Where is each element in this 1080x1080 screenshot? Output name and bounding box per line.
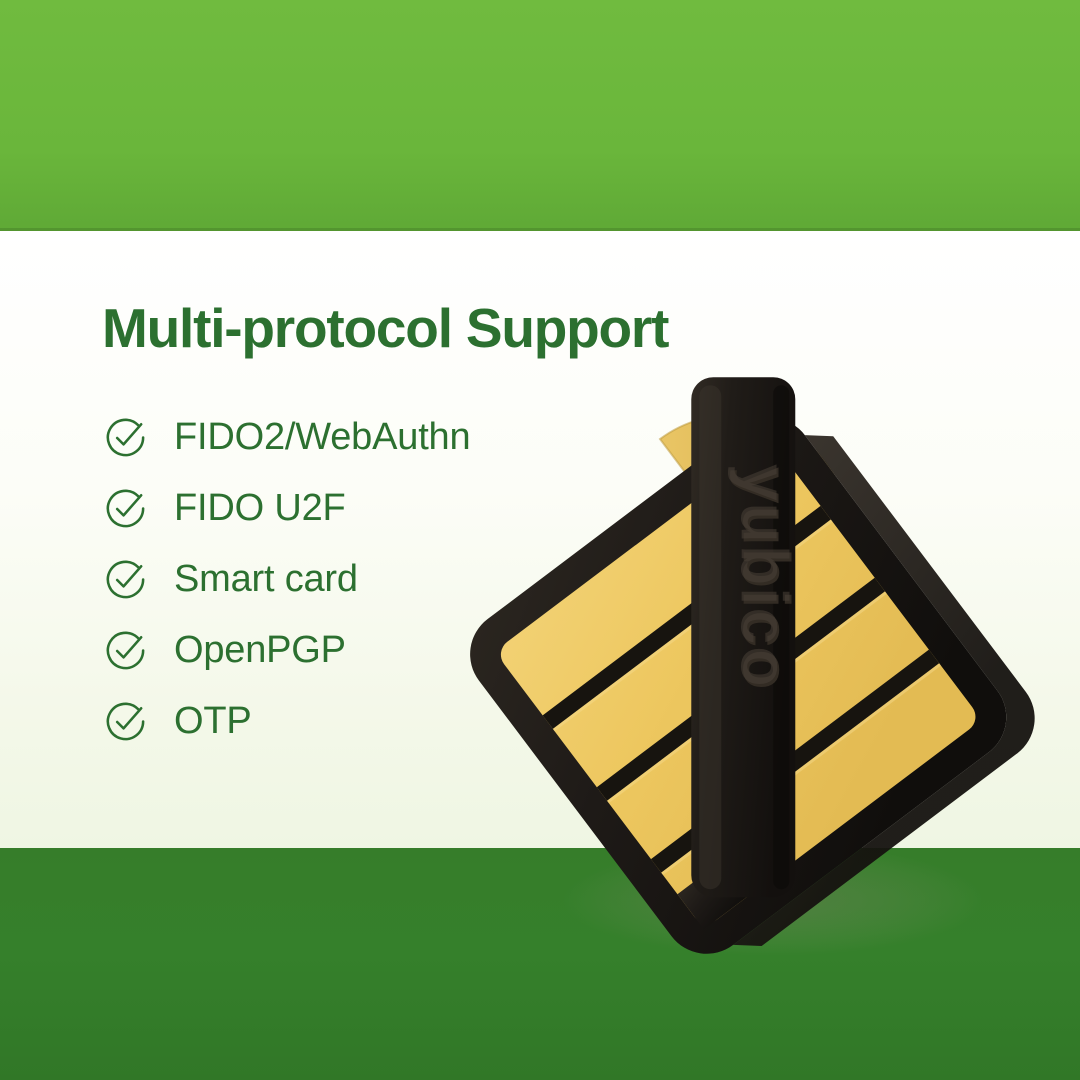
list-item: OpenPGP — [102, 615, 622, 686]
feature-list: FIDO2/WebAuthn FIDO U2F — [102, 402, 622, 757]
top-green-band — [0, 0, 1080, 231]
feature-label: FIDO2/WebAuthn — [174, 418, 470, 456]
feature-label: OpenPGP — [174, 631, 346, 669]
check-circle-icon — [102, 698, 149, 745]
check-circle-icon — [102, 485, 149, 532]
feature-label: FIDO U2F — [174, 489, 346, 527]
feature-label: OTP — [174, 702, 252, 740]
page-title: Multi-protocol Support — [102, 300, 622, 358]
check-circle-icon — [102, 556, 149, 603]
text-column: Multi-protocol Support FIDO2/WebAuthn — [102, 300, 622, 757]
list-item: OTP — [102, 686, 622, 757]
list-item: Smart card — [102, 544, 622, 615]
feature-label: Smart card — [174, 560, 358, 598]
check-circle-icon — [102, 627, 149, 674]
list-item: FIDO U2F — [102, 473, 622, 544]
svg-text:yubico: yubico — [727, 464, 801, 689]
slide-root: yubico yubico Multi-protocol Support FID… — [0, 0, 1080, 1080]
check-circle-icon — [102, 414, 149, 461]
list-item: FIDO2/WebAuthn — [102, 402, 622, 473]
